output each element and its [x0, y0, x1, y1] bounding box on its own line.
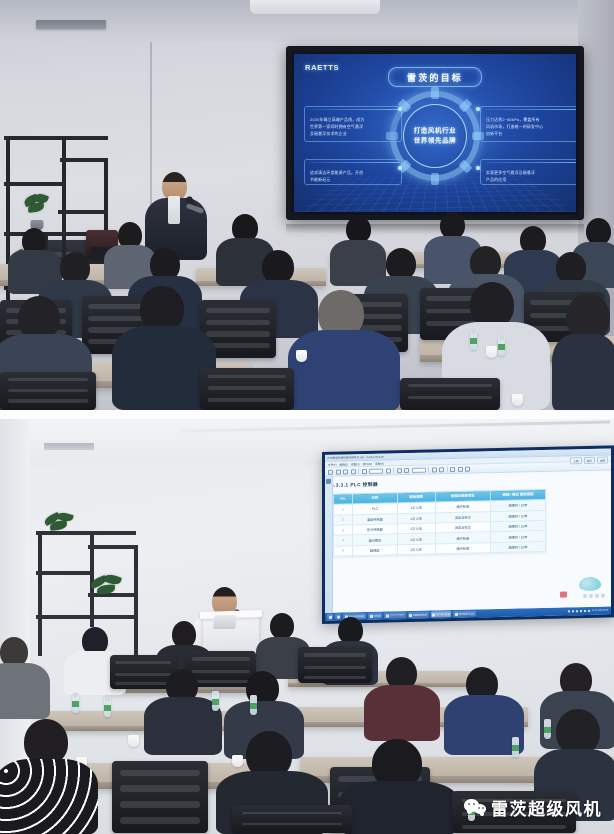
- wall-mounted-tv: RAETTS 雷茨的目标: [286, 46, 584, 220]
- slide-title-frame: 雷茨的目标: [388, 67, 482, 87]
- water-bottle: [544, 719, 551, 739]
- open-file-icon[interactable]: [328, 469, 333, 474]
- menu-item-edit[interactable]: 编辑(E): [340, 462, 349, 466]
- thumbnails-icon[interactable]: [326, 479, 331, 484]
- taskbar-item-materials[interactable]: 超级风机资料: [408, 612, 429, 618]
- training-session-photo: 过市暴某机通用操作指导书.pdf - Adobe Reader 文件(F) 编辑…: [0, 419, 614, 834]
- paper-cup: [128, 735, 139, 747]
- page-number-input[interactable]: [369, 468, 383, 473]
- menu-item-help[interactable]: 帮助(H): [375, 461, 384, 465]
- water-bottle: [72, 693, 79, 713]
- laptop: [213, 615, 236, 629]
- comment-icon[interactable]: [458, 466, 463, 471]
- slide-center-text: 打造风机行业 世界领先品牌: [404, 127, 466, 146]
- presentation-slide: RAETTS 雷茨的目标: [294, 54, 576, 212]
- chair: [400, 378, 500, 410]
- start-button[interactable]: [327, 614, 333, 620]
- slide-text-box-bottom-right: 实现更多空气悬浮及磁悬浮 产品的应用: [486, 169, 572, 183]
- slide-title: 雷茨的目标: [407, 71, 463, 84]
- slide-text-box-top-right: 压力达到2~80kPa，覆盖所有 风机市场，打造唯一的研发中心 创新平台: [486, 116, 572, 138]
- chair: [298, 647, 372, 683]
- presenter-shirt: [168, 196, 180, 224]
- maintenance-table: No. 名称 检验周期 检验及维修项目 修理 / 建议 更换周期: [333, 489, 546, 557]
- pdf-page-area: 6.3.3.1 PLC 控制器 No. 名称 检验周期 检验及维修项目 修理 /…: [325, 470, 611, 612]
- potted-plant: [22, 194, 52, 230]
- paper-cup: [232, 755, 243, 767]
- wechat-account-name: 雷茨超级风机: [491, 795, 602, 820]
- print-icon[interactable]: [343, 469, 348, 474]
- fit-width-icon[interactable]: [439, 467, 444, 472]
- system-tray[interactable]: 16:24 2019/10/18: [568, 609, 609, 612]
- paper-cup: [296, 350, 307, 362]
- pdf-navigation-pane[interactable]: [325, 477, 333, 613]
- wechat-icon: [464, 798, 486, 817]
- projection-screen: 过市暴某机通用操作指导书.pdf - Adobe Reader 文件(F) 编辑…: [322, 445, 614, 624]
- next-page-icon[interactable]: [386, 468, 391, 473]
- menu-item-view[interactable]: 视图(V): [351, 462, 360, 466]
- water-bottle: [498, 336, 505, 356]
- pdf-reader-window: 过市暴某机通用操作指导书.pdf - Adobe Reader 文件(F) 编辑…: [325, 448, 611, 620]
- ceiling-light: [250, 0, 380, 14]
- document-stamp-icon: [560, 591, 567, 597]
- potted-plant: [44, 513, 78, 539]
- water-bottle: [104, 697, 111, 717]
- gear-graphic: 打造风机行业 世界领先品牌: [390, 91, 480, 181]
- slide-text-box-top-left: 2020年确立高端产品线，成为 世界第一家同时拥有空气悬浮 及磁悬浮技术的企业: [310, 116, 396, 138]
- chair: [112, 761, 208, 833]
- zoom-level-input[interactable]: [412, 467, 426, 472]
- photo-collage: RAETTS 雷茨的目标: [0, 0, 614, 834]
- save-icon[interactable]: [336, 469, 341, 474]
- zoom-in-icon[interactable]: [404, 468, 409, 473]
- ceiling-vent-icon: [44, 443, 94, 450]
- pdf-window-title: 过市暴某机通用操作指导书.pdf - Adobe Reader: [327, 455, 384, 460]
- document-footer-icons: [583, 594, 605, 598]
- water-bottle: [470, 330, 477, 350]
- wechat-watermark: 雷茨超级风机: [464, 795, 602, 820]
- chair: [200, 368, 294, 410]
- chair: [232, 805, 352, 833]
- previous-page-icon[interactable]: [362, 468, 367, 473]
- paper-cup: [486, 346, 497, 358]
- potted-plant: [90, 575, 126, 603]
- paper-cup: [512, 394, 523, 406]
- taskbar-item-browser[interactable]: 浏览器: [368, 613, 382, 619]
- document-logo-watermark: [579, 577, 601, 591]
- signature-icon[interactable]: [465, 466, 470, 471]
- document-heading: 6.3.3.1 PLC 控制器: [331, 476, 611, 488]
- tab-sign[interactable]: 签名: [584, 457, 595, 464]
- fit-page-icon[interactable]: [432, 467, 437, 472]
- menu-item-file[interactable]: 文件(F): [328, 462, 337, 466]
- panel-divider: [0, 410, 614, 419]
- chair: [0, 372, 96, 410]
- col-header-no: No.: [334, 494, 353, 505]
- email-icon[interactable]: [351, 469, 356, 474]
- raetts-logo: RAETTS: [305, 63, 339, 72]
- search-button[interactable]: [335, 614, 341, 620]
- tab-comment[interactable]: 注释: [597, 457, 608, 464]
- water-bottle: [250, 695, 257, 715]
- water-bottle: [512, 737, 519, 757]
- slide-center-line-1: 打造风机行业: [404, 127, 466, 136]
- taskbar-item-reader[interactable]: Adobe Reader: [384, 612, 406, 618]
- taskbar-item-active-document[interactable]: 空气悬浮数据: [431, 611, 452, 617]
- seminar-presentation-photo: RAETTS 雷茨的目标: [0, 0, 614, 410]
- slide-text-box-bottom-left: 追求清洁环保能源产品，开创 节能新纪元: [310, 169, 396, 183]
- slide-center-line-2: 世界领先品牌: [404, 136, 466, 145]
- water-bottle: [212, 691, 219, 711]
- taskbar-item-guide[interactable]: 操作指导书.pdf: [453, 611, 475, 618]
- taskbar-clock: 16:24 2019/10/18: [592, 609, 608, 611]
- highlight-icon[interactable]: [450, 466, 455, 471]
- tab-tools[interactable]: 工具: [570, 457, 581, 464]
- menu-item-window[interactable]: 窗口(W): [363, 461, 372, 465]
- zoom-out-icon[interactable]: [397, 468, 402, 473]
- ceiling-vent-icon: [36, 20, 106, 29]
